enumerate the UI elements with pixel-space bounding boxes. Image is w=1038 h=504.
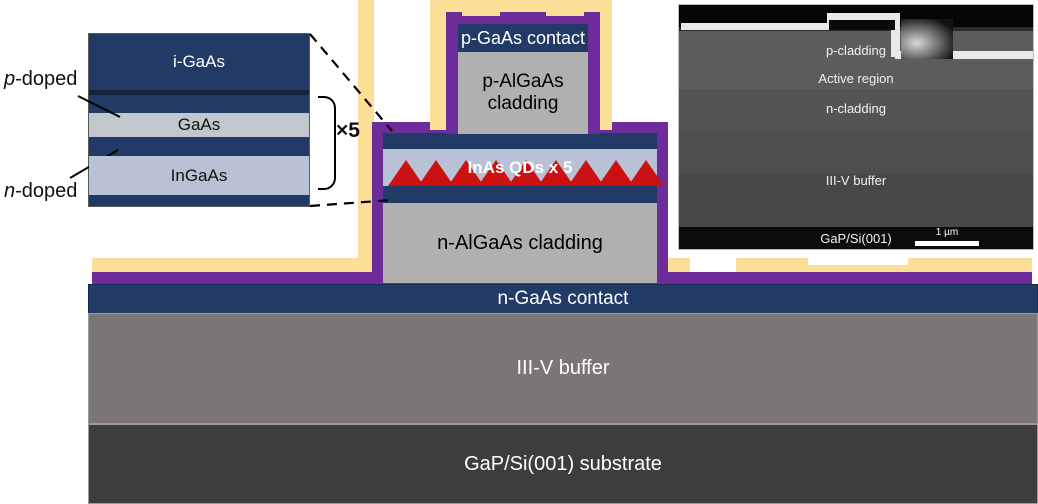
p-cladding-line-2: cladding <box>482 93 563 115</box>
ridge-metal-notch-right <box>546 0 584 16</box>
p-gaas-contact-label: p-GaAs contact <box>458 24 588 52</box>
ridge-metal-notch-left <box>462 0 500 16</box>
figure-canvas: n-AlGaAs cladding InAs QDs x 5 p-GaAs co… <box>0 0 1038 504</box>
n-doped-annotation: n-doped <box>4 180 77 203</box>
sem-scale-bar-label: 1 µm <box>915 227 979 238</box>
sem-cross-section-inset: p-cladding Active region n-cladding III-… <box>678 4 1034 250</box>
gap-si-substrate-layer: GaP/Si(001) substrate <box>88 424 1038 504</box>
sem-label-n-cladding: n-cladding <box>679 101 1033 116</box>
p-cladding-line-1: p-AlGaAs <box>482 71 563 93</box>
sem-scale-bar <box>915 241 979 246</box>
n-gaas-contact-layer: n-GaAs contact <box>88 284 1038 314</box>
mesa-lower-gaas-layer <box>383 186 657 203</box>
mesa-active-region-label: InAs QDs x 5 <box>383 152 657 184</box>
inset-layer-i-gaas-bottom: i-GaAs <box>89 195 309 207</box>
p-doped-annotation: p-doped <box>4 68 77 91</box>
inset-navy-spacer-2 <box>89 137 309 156</box>
inset-layer-gaas: GaAs <box>89 113 309 137</box>
repeat-brace <box>318 96 336 190</box>
inset-layer-i-gaas-top: i-GaAs <box>89 34 309 90</box>
inset-layer-ingaas: InGaAs <box>89 156 309 195</box>
sem-label-p-cladding: p-cladding <box>679 43 1033 58</box>
sem-label-iii-v-buffer: III-V buffer <box>679 173 1033 188</box>
iii-v-buffer-layer: III-V buffer <box>88 313 1038 424</box>
metal-yellow-right-pad-c <box>908 258 1032 273</box>
p-algaas-cladding-label: p-AlGaAs cladding <box>458 52 588 134</box>
sem-n-cladding-band <box>679 131 1033 174</box>
mesa-n-cladding-label: n-AlGaAs cladding <box>383 203 657 283</box>
inset-navy-spacer-1 <box>89 95 309 113</box>
sem-label-gap-si: GaP/Si(001) <box>679 231 1033 246</box>
epitaxial-zoom-inset: i-GaAs GaAs InGaAs i-GaAs <box>88 33 310 207</box>
metal-yellow-right-pad-a <box>736 258 808 273</box>
mesa-upper-gaas-layer <box>383 133 657 149</box>
sem-label-active-region: Active region <box>679 71 1033 86</box>
repeat-count-label: ×5 <box>336 119 360 143</box>
